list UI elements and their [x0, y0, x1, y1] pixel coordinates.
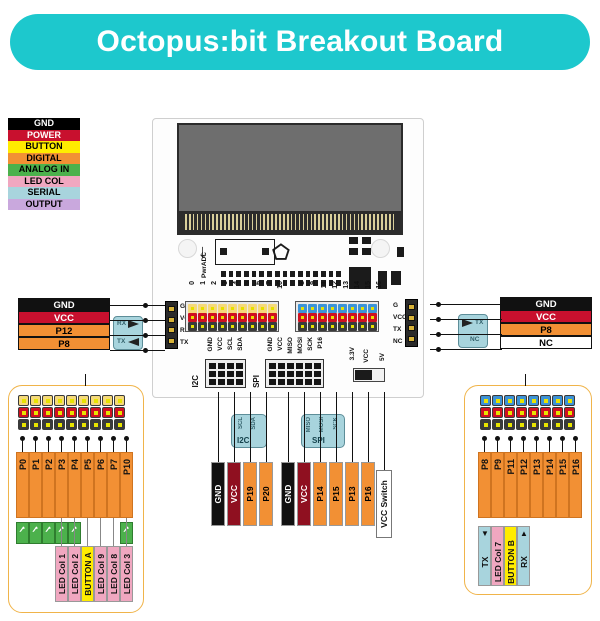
right-exp-function-label: LED Col 7: [493, 542, 503, 582]
right-wire-dot: [436, 317, 441, 322]
conn-spi-label-mosi: MOSI: [297, 337, 304, 354]
pin-number-0: 0: [189, 281, 196, 285]
right-exp-pin-label: P11: [506, 459, 516, 475]
right-exp-pin-header[interactable]: [479, 394, 575, 430]
left-serial-row-gnd: GND: [18, 298, 110, 311]
legend-item-led-col: LED COL: [8, 176, 80, 188]
right-exp-pin-P16: P16: [569, 452, 582, 518]
vcc-selector-switch[interactable]: [353, 368, 385, 382]
conn-spi-label-sck: SCK: [307, 337, 314, 351]
left-exp-lead: [126, 440, 127, 452]
elecfreaks-logo-icon: ⬠: [269, 241, 293, 265]
legend-item-digital: DIGITAL: [8, 153, 80, 165]
left-exp-pin-label: P0: [18, 459, 28, 470]
left-exp-func-lead: [126, 518, 127, 546]
left-exp-pin-P0: P0: [16, 452, 29, 518]
right-exp-lead: [536, 440, 537, 452]
right-hdr-labels-g: G: [393, 302, 398, 309]
pin-0-r0[interactable]: [188, 304, 197, 313]
left-wire-dot: [143, 303, 148, 308]
vcc-switch-callout-label: VCC Switch: [379, 480, 389, 528]
pin-number-10: 10: [277, 281, 284, 289]
i2c-cols-col-p19: P19: [243, 462, 257, 526]
spi-cols-col-p15: P15: [329, 462, 343, 526]
right-exp-lead: [484, 440, 485, 452]
legend-item-power: POWER: [8, 130, 80, 142]
left-exp-pin-P10: P10: [120, 452, 133, 518]
pin-11-r0[interactable]: [318, 304, 327, 313]
pin-number-6: 6: [255, 281, 262, 285]
spi-cols-col-label: GND: [283, 485, 293, 504]
pin-number-4: 4: [233, 281, 240, 285]
left-exp-pin-P1: P1: [29, 452, 42, 518]
left-exp-analog-P0: ✓: [16, 522, 29, 544]
left-expansion-callout: P0P1P2P3P4P5P6P7P10✓✓✓✓✓✓LED Col 1LED Co…: [8, 385, 144, 613]
left-exp-pin-P2: P2: [42, 452, 55, 518]
right-exp-pin-P8: P8: [478, 452, 491, 518]
i2c-cols-col-gnd: GND: [211, 462, 225, 526]
tx-arrow-right-icon: [462, 319, 474, 327]
right-exp-pin-label: P16: [571, 459, 581, 475]
right-exp-lead: [575, 440, 576, 452]
left-exp-function-led-col-2: LED Col 2: [68, 546, 81, 602]
left-wire: [110, 335, 165, 336]
right-exp-pin-P14: P14: [543, 452, 556, 518]
switch-label-3v3: 3.3V: [349, 347, 356, 360]
pin-9-r1[interactable]: [308, 313, 317, 322]
spi-cols-col-vcc: VCC: [297, 462, 311, 526]
pin-11-r2[interactable]: [318, 322, 327, 331]
left-exp-pin-P5: P5: [81, 452, 94, 518]
pin-10-r0[interactable]: [268, 304, 277, 313]
left-tx-label: TX: [117, 338, 125, 345]
switch-label-5v: 5V: [379, 353, 386, 361]
color-legend: GNDPOWERBUTTONDIGITALANALOG INLED COLSER…: [8, 118, 80, 210]
right-exp-function-rx: RX▲: [517, 526, 530, 586]
right-exp-pin-label: P9: [493, 459, 503, 470]
edge-connector-pins: [177, 213, 403, 235]
left-exp-func-lead: [113, 518, 114, 546]
left-exp-func-lead: [87, 518, 88, 546]
right-exp-function-label: TX: [480, 557, 490, 568]
left-wire: [110, 350, 165, 351]
octopus-bit-board: ↓ ⬠ PwrADC GVCCRXTX GVCCTXNC 0123456710 …: [152, 118, 424, 398]
spi-connector[interactable]: [265, 359, 324, 388]
i2c-callout-box: I2C SCL SDA: [231, 414, 267, 448]
pin-5-r0[interactable]: [238, 304, 247, 313]
pin-13-r1[interactable]: [338, 313, 347, 322]
pin-6-r0[interactable]: [248, 304, 257, 313]
pwradc-silk-label: PwrADC: [201, 252, 208, 278]
left-exp-lead: [74, 440, 75, 452]
spi-cols-col-label: P14: [315, 486, 325, 501]
mounting-hole-left: [178, 239, 197, 258]
right-exp-pin-label: P13: [532, 459, 542, 475]
pin-1-r0[interactable]: [198, 304, 207, 313]
left-exp-pin-label: P10: [122, 459, 132, 475]
left-serial-callout: GNDVCCP12P8: [18, 298, 110, 350]
i2c-cols-col-label: P19: [245, 486, 255, 501]
left-exp-lead: [48, 440, 49, 452]
right-hdr-labels-vcc: VCC: [393, 314, 407, 321]
pin-13-r0[interactable]: [338, 304, 347, 313]
pin-14-r2[interactable]: [348, 322, 357, 331]
right-exp-function-label: BUTTON B: [506, 540, 516, 584]
digital-pin-group-yellow[interactable]: [185, 301, 279, 332]
pin-number-5: 5: [244, 281, 251, 285]
spi-cols-lead: [304, 392, 305, 462]
i2c-cols-lead: [234, 392, 235, 462]
pin-15-r0[interactable]: [358, 304, 367, 313]
left-exp-lead: [100, 440, 101, 452]
left-exp-pin-P4: P4: [68, 452, 81, 518]
pin-8-r0[interactable]: [298, 304, 307, 313]
right-hdr-labels-nc: NC: [393, 338, 402, 345]
right-exp-stem: [525, 374, 526, 386]
right-exp-pin-P12: P12: [517, 452, 530, 518]
pin-6-r1[interactable]: [248, 313, 257, 322]
i2c-sda-label: SDA: [251, 417, 257, 430]
right-exp-lead: [497, 440, 498, 452]
i2c-cols-lead: [250, 392, 251, 462]
left-exp-pin-P7: P7: [107, 452, 120, 518]
spi-cols-col-gnd: GND: [281, 462, 295, 526]
right-exp-pin-P15: P15: [556, 452, 569, 518]
spi-cols-col-label: VCC: [299, 485, 309, 503]
right-exp-function-label: RX: [519, 556, 529, 568]
vcc-switch-callout: VCC Switch: [376, 470, 392, 538]
spi-cols-col-p14: P14: [313, 462, 327, 526]
pin-6-r2[interactable]: [248, 322, 257, 331]
pin-16-r0[interactable]: [368, 304, 377, 313]
left-exp-lead: [113, 440, 114, 452]
conn-spi-label-miso: MISO: [287, 337, 294, 354]
right-serial-header[interactable]: [405, 299, 418, 347]
left-exp-lead: [87, 440, 88, 452]
legend-item-analog-in: ANALOG IN: [8, 164, 80, 176]
left-exp-pin-P3: P3: [55, 452, 68, 518]
left-exp-pin-label: P4: [70, 459, 80, 470]
spi-cols-lead: [352, 392, 353, 462]
pin-3-r0[interactable]: [218, 304, 227, 313]
page-title: Octopus:bit Breakout Board: [97, 25, 504, 59]
pin-number-3: 3: [222, 281, 229, 285]
left-exp-function-led-col-9: LED Col 9: [94, 546, 107, 602]
right-serial-callout: GNDVCCP8NC: [500, 297, 592, 349]
left-exp-function-label: BUTTON A: [83, 552, 93, 595]
pin-number-9: 9: [310, 281, 317, 285]
left-exp-lead: [35, 440, 36, 452]
analog-check-icon: ✓: [30, 523, 39, 533]
left-exp-pin-label: P6: [96, 459, 106, 470]
pin-2-r0[interactable]: [208, 304, 217, 313]
i2c-silk-label: I2C: [191, 375, 200, 387]
left-exp-stem: [85, 374, 86, 386]
pin-4-r1[interactable]: [228, 313, 237, 322]
i2c-cols-col-label: VCC: [229, 485, 239, 503]
pin-14-r0[interactable]: [348, 304, 357, 313]
pin-3-r1[interactable]: [218, 313, 227, 322]
pin-5-r1[interactable]: [238, 313, 247, 322]
digital-pin-group-blue[interactable]: [295, 301, 379, 332]
left-wire-dot: [143, 318, 148, 323]
switch-label-vcc: VCC: [363, 349, 370, 363]
conn-spi-label-gnd: GND: [267, 337, 274, 351]
i2c-cols-col-label: P20: [261, 486, 271, 501]
left-serial-row-p8: P8: [18, 337, 110, 350]
left-exp-lead: [61, 440, 62, 452]
left-wire: [110, 320, 165, 321]
right-exp-function-led-col-7: LED Col 7: [491, 526, 504, 586]
left-hdr-labels-tx: TX: [180, 339, 188, 346]
right-exp-pin-P9: P9: [491, 452, 504, 518]
pin-9-r2[interactable]: [308, 322, 317, 331]
legend-item-output: OUTPUT: [8, 199, 80, 211]
conn-i2c-label-vcc: VCC: [217, 337, 224, 351]
left-wire-dot: [143, 333, 148, 338]
i2c-scl-label: SCL: [238, 417, 244, 429]
pin-number-12: 12: [332, 281, 339, 289]
left-exp-function-label: LED Col 1: [57, 554, 67, 594]
left-exp-function-label: LED Col 9: [96, 554, 106, 594]
pin-7-r0[interactable]: [258, 304, 267, 313]
right-exp-lead: [510, 440, 511, 452]
spi-cols-lead: [368, 392, 369, 462]
left-wire: [110, 305, 165, 306]
right-exp-pin-label: P14: [545, 459, 555, 475]
conn-spi-label-p16: P16: [317, 337, 324, 349]
pin-number-11: 11: [321, 281, 328, 288]
pin-8-r2[interactable]: [298, 322, 307, 331]
pin-number-15: 15: [365, 281, 372, 289]
left-exp-pin-P6: P6: [94, 452, 107, 518]
pin-9-r0[interactable]: [308, 304, 317, 313]
pin-7-r2[interactable]: [258, 322, 267, 331]
pin-16-r2[interactable]: [368, 322, 377, 331]
pin-1-r2[interactable]: [198, 322, 207, 331]
i2c-cols-col-p20: P20: [259, 462, 273, 526]
silk-component-outline: [215, 239, 275, 265]
right-exp-function-tx: TX▼: [478, 526, 491, 586]
right-hdr-labels-tx: TX: [393, 326, 401, 333]
analog-check-icon: ✓: [43, 523, 52, 533]
conn-i2c-label-gnd: GND: [207, 337, 214, 351]
pin-1-r1[interactable]: [198, 313, 207, 322]
right-exp-pin-label: P8: [480, 459, 490, 470]
i2c-cols-col-vcc: VCC: [227, 462, 241, 526]
left-exp-analog-P2: ✓: [42, 522, 55, 544]
right-exp-pin-label: P15: [558, 459, 568, 475]
pin-number-1: 1: [200, 281, 207, 285]
spi-cols-lead: [288, 392, 289, 462]
pin-12-r0[interactable]: [328, 304, 337, 313]
pin-0-r2[interactable]: [188, 322, 197, 331]
left-exp-pin-label: P2: [44, 459, 54, 470]
left-exp-pin-label: P5: [83, 459, 93, 470]
spi-cols-col-label: P16: [363, 486, 373, 501]
pin-11-r1[interactable]: [318, 313, 327, 322]
right-exp-pin-label: P12: [519, 459, 529, 475]
right-wire-dot: [436, 347, 441, 352]
spi-miso-label: MISO: [306, 417, 312, 432]
pin-15-r1[interactable]: [358, 313, 367, 322]
pin-10-r1[interactable]: [268, 313, 277, 322]
pin-12-r2[interactable]: [328, 322, 337, 331]
right-nc-label: NC: [470, 336, 479, 343]
pin-number-14: 14: [354, 281, 361, 289]
pin-10-r2[interactable]: [268, 322, 277, 331]
left-exp-func-lead: [74, 518, 75, 546]
left-wire-dot: [143, 348, 148, 353]
pin-13-r2[interactable]: [338, 322, 347, 331]
i2c-cols-col-label: GND: [213, 485, 223, 504]
vcc-switch-lead: [384, 392, 385, 470]
left-exp-pin-header[interactable]: [17, 394, 125, 430]
pin-number-13: 13: [343, 281, 350, 289]
left-exp-func-lead: [61, 518, 62, 546]
pin-14-r1[interactable]: [348, 313, 357, 322]
pin-4-r2[interactable]: [228, 322, 237, 331]
pin-7-r1[interactable]: [258, 313, 267, 322]
tx-arrow-icon: [128, 338, 140, 346]
rx-arrow-icon: [128, 320, 140, 328]
right-wire-dot: [436, 302, 441, 307]
spi-cols-col-p16: P16: [361, 462, 375, 526]
pin-number-2: 2: [211, 281, 218, 285]
pin-2-r1[interactable]: [208, 313, 217, 322]
right-exp-lead: [562, 440, 563, 452]
page-title-banner: Octopus:bit Breakout Board: [10, 14, 590, 70]
right-exp-function-button-b: BUTTON B: [504, 526, 517, 586]
direction-arrow-icon: ▲: [520, 529, 528, 538]
i2c-cols-lead: [266, 392, 267, 462]
right-serial-row-gnd: GND: [500, 297, 592, 310]
spi-cols-col-label: P15: [331, 486, 341, 501]
legend-item-button: BUTTON: [8, 141, 80, 153]
spi-cols-col-p13: P13: [345, 462, 359, 526]
right-exp-lead: [549, 440, 550, 452]
i2c-callout-label: I2C: [237, 436, 249, 445]
right-serial-row-vcc: VCC: [500, 310, 592, 323]
left-exp-function-label: LED Col 3: [122, 554, 132, 594]
left-exp-lead: [22, 440, 23, 452]
pin-number-8: 8: [299, 281, 306, 285]
left-exp-function-led-col-8: LED Col 8: [107, 546, 120, 602]
pin-3-r2[interactable]: [218, 322, 227, 331]
left-exp-pin-label: P7: [109, 459, 119, 470]
right-exp-lead: [523, 440, 524, 452]
spi-cols-lead: [336, 392, 337, 462]
left-exp-analog-P1: ✓: [29, 522, 42, 544]
left-serial-header[interactable]: [165, 301, 178, 349]
conn-i2c-label-scl: SCL: [227, 337, 234, 350]
right-expansion-callout: P8P9P11P12P13P14P15P16TX▼LED Col 7BUTTON…: [464, 385, 592, 595]
left-exp-function-led-col-3: LED Col 3: [120, 546, 133, 602]
right-wire-dot: [436, 332, 441, 337]
left-exp-function-label: LED Col 2: [70, 554, 80, 594]
i2c-cols-lead: [218, 392, 219, 462]
pin-8-r1[interactable]: [298, 313, 307, 322]
legend-item-gnd: GND: [8, 118, 80, 130]
left-serial-row-p12: P12: [18, 324, 110, 337]
spi-cols-col-label: P13: [347, 486, 357, 501]
pin-2-r2[interactable]: [208, 322, 217, 331]
left-exp-pin-label: P3: [57, 459, 67, 470]
left-exp-function-button-a: BUTTON A: [81, 546, 94, 602]
legend-item-serial: SERIAL: [8, 187, 80, 199]
spi-cols-lead: [320, 392, 321, 462]
pin-4-r0[interactable]: [228, 304, 237, 313]
spi-callout-box: SPI MISO MOSI SCK: [301, 414, 345, 448]
left-exp-function-label: LED Col 8: [109, 554, 119, 594]
pin-12-r1[interactable]: [328, 313, 337, 322]
pin-0-r1[interactable]: [188, 313, 197, 322]
spi-callout-label: SPI: [312, 436, 325, 445]
spi-silk-label: SPI: [252, 375, 261, 388]
right-serial-row-nc: NC: [500, 336, 592, 349]
right-exp-pin-P11: P11: [504, 452, 517, 518]
pin-number-16: 16: [376, 281, 383, 289]
direction-arrow-icon: ▼: [481, 529, 489, 538]
pin-16-r1[interactable]: [368, 313, 377, 322]
i2c-connector[interactable]: [205, 359, 246, 388]
pin-15-r2[interactable]: [358, 322, 367, 331]
mounting-hole-right: [371, 239, 390, 258]
left-exp-pin-label: P1: [31, 459, 41, 470]
analog-check-icon: ✓: [17, 523, 26, 533]
microbit-edge-connector-slot: [177, 123, 403, 213]
pin-number-7: 7: [266, 281, 273, 285]
pin-5-r2[interactable]: [238, 322, 247, 331]
conn-i2c-label-sda: SDA: [237, 337, 244, 351]
right-exp-pin-P13: P13: [530, 452, 543, 518]
left-serial-row-vcc: VCC: [18, 311, 110, 324]
conn-spi-label-vcc: VCC: [277, 337, 284, 351]
left-exp-function-led-col-1: LED Col 1: [55, 546, 68, 602]
right-serial-row-p8: P8: [500, 323, 592, 336]
left-exp-func-lead: [100, 518, 101, 546]
